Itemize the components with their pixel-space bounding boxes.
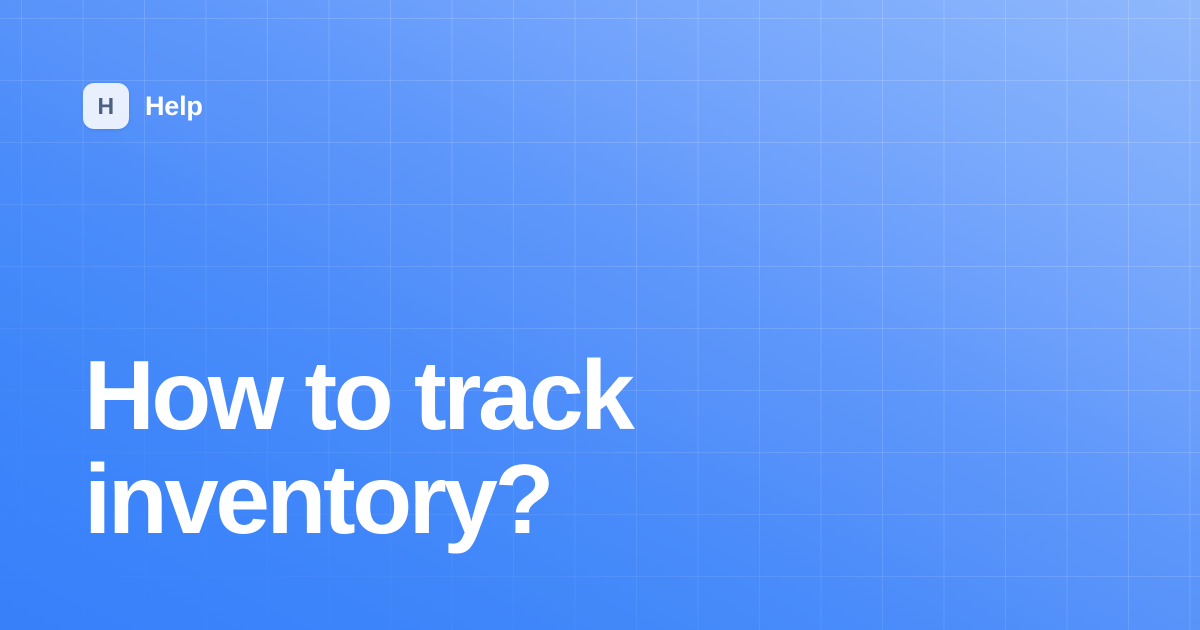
brand-logo[interactable]: H Help: [83, 83, 203, 129]
brand-name: Help: [145, 93, 203, 120]
page-title: How to track inventory?: [84, 344, 1116, 552]
help-badge-icon: H: [83, 83, 129, 129]
badge-letter: H: [98, 95, 115, 118]
og-card: H Help How to track inventory?: [0, 0, 1200, 630]
